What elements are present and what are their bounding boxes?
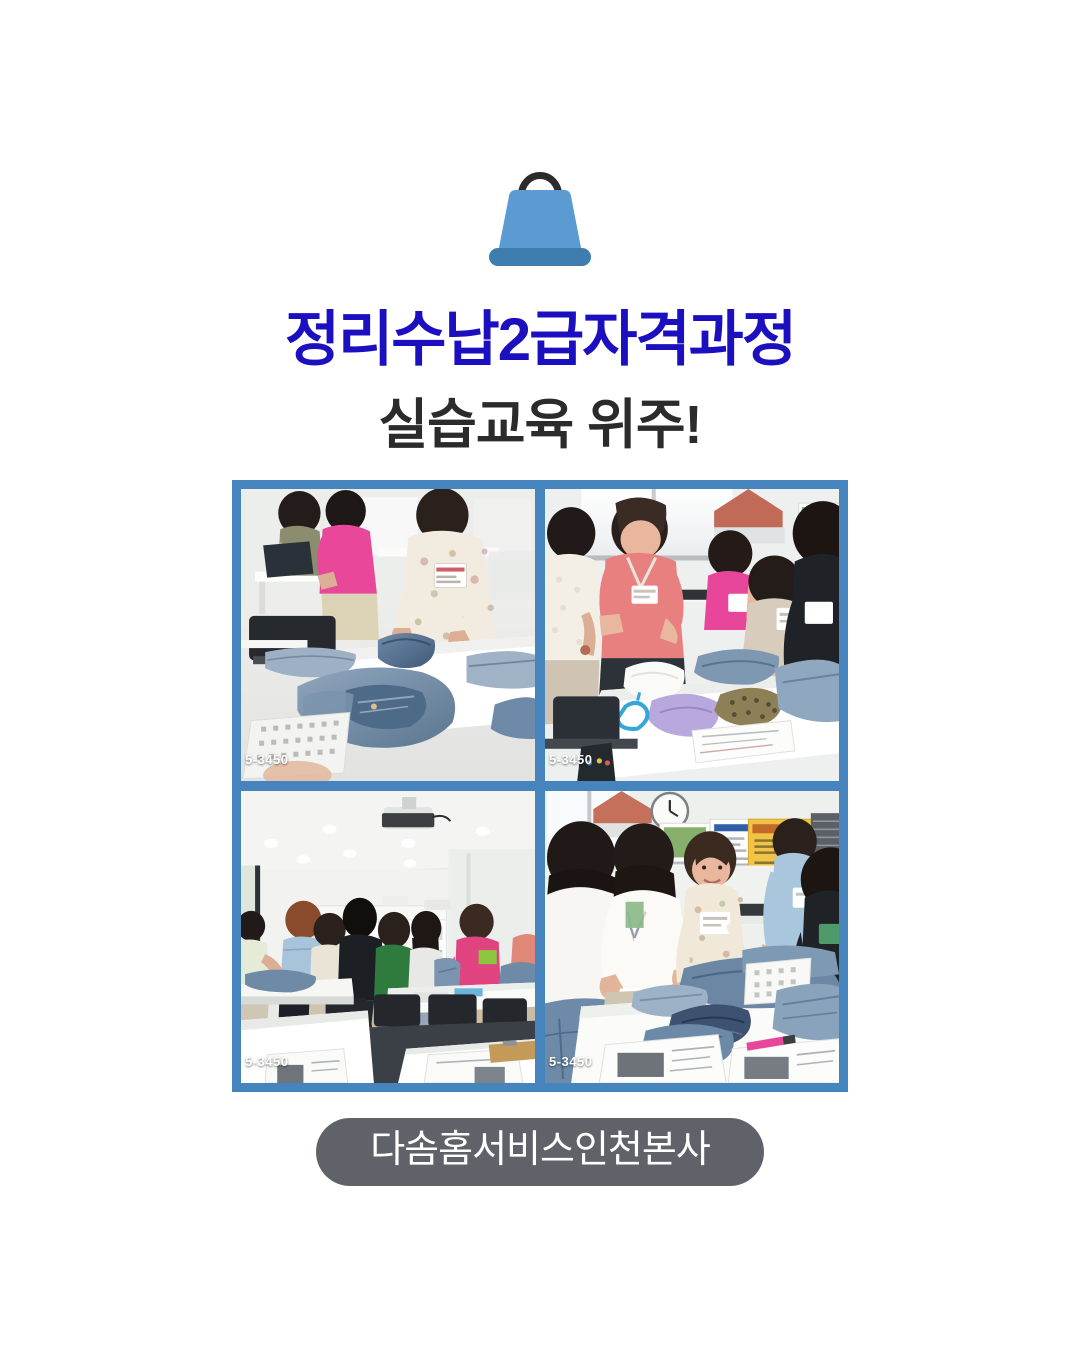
photo-top-left: 5-3450 <box>241 489 535 781</box>
photo-top-right: 5-3450 <box>545 489 839 781</box>
photo-bottom-right: V <box>545 791 839 1083</box>
photo-collage: 5-3450 <box>232 480 848 1092</box>
svg-text:V: V <box>630 925 640 942</box>
photo-bottom-left: 5-3450 <box>241 791 535 1083</box>
poster-canvas: 정리수납2급자격과정 실습교육 위주! <box>0 0 1080 1350</box>
page-title: 정리수납2급자격과정 <box>285 310 795 370</box>
page-subtitle: 실습교육 위주! <box>378 398 701 452</box>
binder-clip-icon <box>475 140 605 268</box>
organization-badge: 다솜홈서비스인천본사 <box>316 1118 764 1186</box>
